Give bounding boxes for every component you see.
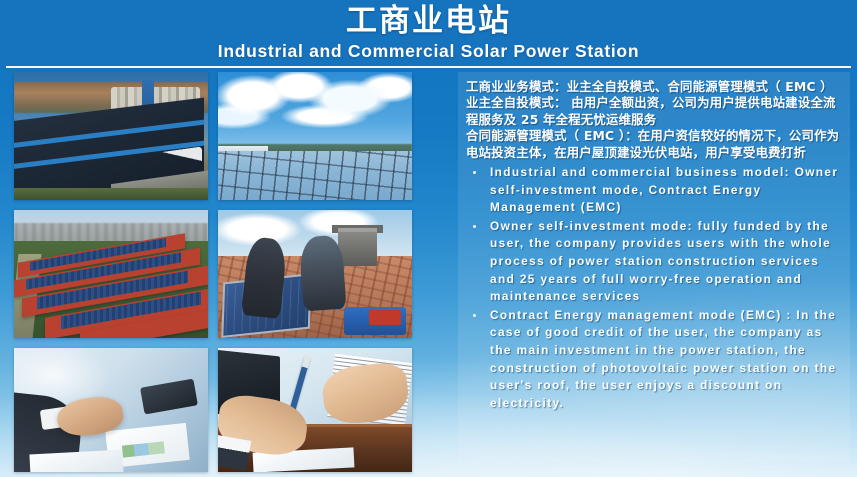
- english-bullet-list: Industrial and commercial business model…: [466, 164, 844, 412]
- photo-signing-contract-with-pen[interactable]: [218, 348, 412, 472]
- photo-grid: [14, 72, 412, 470]
- photo-flat-rooftop-solar-panels-sky[interactable]: [218, 72, 412, 200]
- bullet-item: Industrial and commercial business model…: [466, 164, 844, 217]
- slide-header: 工商业电站 Industrial and Commercial Solar Po…: [0, 0, 857, 67]
- slide-root: 工商业电站 Industrial and Commercial Solar Po…: [0, 0, 857, 477]
- photo-aerial-industrial-plant-rooftop-solar[interactable]: [14, 72, 208, 200]
- photo-red-roof-factories-solar-array[interactable]: [14, 210, 208, 338]
- bullet-text: Owner self-investment mode: fully funded…: [490, 219, 831, 303]
- bullet-dot-icon: [473, 225, 476, 228]
- chinese-description: 工商业业务模式：业主全自投模式、合同能源管理模式（ EMC ） 业主全自投模式：…: [466, 79, 844, 161]
- bullet-dot-icon: [473, 171, 476, 174]
- bullet-dot-icon: [473, 314, 476, 317]
- photo-business-handshake-meeting[interactable]: [14, 348, 208, 472]
- chinese-paragraph-3: 合同能源管理模式（ EMC ）：在用户资信较好的情况下，公司作为电站投资主体，在…: [466, 128, 844, 161]
- description-panel: 工商业业务模式：业主全自投模式、合同能源管理模式（ EMC ） 业主全自投模式：…: [458, 72, 850, 462]
- page-title-english: Industrial and Commercial Solar Power St…: [0, 40, 857, 62]
- bullet-item: Owner self-investment mode: fully funded…: [466, 218, 844, 306]
- page-title-chinese: 工商业电站: [0, 3, 857, 39]
- photo-workers-installing-roof-panels[interactable]: [218, 210, 412, 338]
- header-divider: [6, 66, 851, 68]
- chinese-paragraph-2: 业主全自投模式： 由用户全额出资，公司为用户提供电站建设全流程服务及 25 年全…: [466, 95, 844, 128]
- bullet-text: Industrial and commercial business model…: [490, 165, 838, 214]
- bullet-text: Contract Energy management mode (EMC) : …: [490, 308, 836, 410]
- chinese-paragraph-1: 工商业业务模式：业主全自投模式、合同能源管理模式（ EMC ）: [466, 79, 844, 95]
- bullet-item: Contract Energy management mode (EMC) : …: [466, 307, 844, 413]
